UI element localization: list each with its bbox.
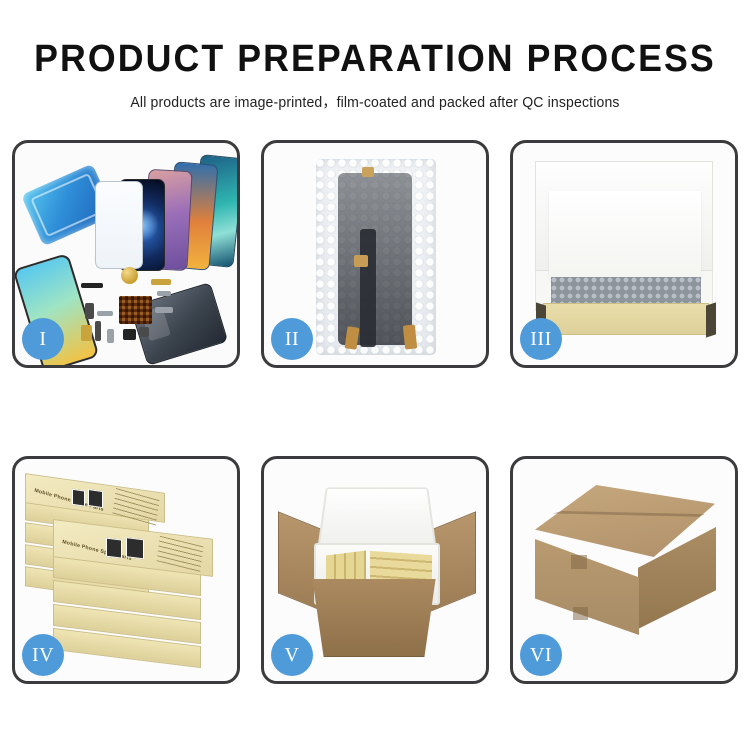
process-step-panel-4[interactable]: Mobile Phone Spare Parts Mobile Phone Sp…: [12, 456, 240, 684]
step-badge-6: VI: [520, 634, 562, 676]
spare-parts-cluster: [81, 267, 201, 359]
step-badge-1: I: [22, 318, 64, 360]
screen-flex-tail: [360, 229, 376, 347]
bubble-wrap-bag: [316, 159, 436, 355]
process-step-panel-2[interactable]: II: [261, 140, 489, 368]
part-flex-gold: [151, 279, 171, 285]
step-badge-5: V: [271, 634, 313, 676]
vibration-motor-part: [121, 267, 138, 284]
process-step-panel-5[interactable]: V: [261, 456, 489, 684]
connector-grid-part: [119, 296, 152, 324]
carton-body: [304, 579, 444, 657]
step-badge-3: III: [520, 318, 562, 360]
part-flex-cable: [95, 321, 101, 341]
page-title: PRODUCT PREPARATION PROCESS: [23, 40, 728, 78]
part-antenna: [155, 307, 173, 313]
process-step-panel-1[interactable]: I: [12, 140, 240, 368]
part-button: [123, 329, 136, 340]
sealed-carton-front: [535, 539, 639, 635]
step-badge-4: IV: [22, 634, 64, 676]
foam-sheet: [549, 191, 701, 279]
box-chip-image-b1: [72, 489, 85, 507]
part-sensor: [139, 327, 149, 337]
step-6-image: VI: [513, 459, 735, 681]
step-3-image: III: [513, 143, 735, 365]
process-step-panel-3[interactable]: III: [510, 140, 738, 368]
step-badge-2: II: [271, 318, 313, 360]
tape-piece-1: [362, 167, 374, 177]
tape-piece-2: [354, 255, 368, 267]
part-camera: [85, 303, 94, 319]
part-sim-tray: [107, 329, 114, 343]
page-header: PRODUCT PREPARATION PROCESS All products…: [0, 0, 750, 112]
screen-protector: [95, 181, 143, 269]
foam-box-lid: [318, 487, 437, 547]
process-step-panel-6[interactable]: VI: [510, 456, 738, 684]
bubble-wrap-fill: [551, 277, 701, 305]
part-bracket: [157, 291, 171, 296]
step-2-image: II: [264, 143, 486, 365]
part-speaker: [81, 283, 103, 288]
yellow-box-base: [543, 303, 709, 335]
process-step-grid: I II III: [12, 140, 738, 692]
carton-tape-mark-1: [571, 555, 587, 569]
part-clip: [97, 311, 113, 316]
step-4-image: Mobile Phone Spare Parts Mobile Phone Sp…: [15, 459, 237, 681]
step-5-image: V: [264, 459, 486, 681]
box-chip-image-b2: [88, 489, 103, 508]
box-chip-image-f2: [126, 537, 144, 559]
tape-piece-4: [403, 324, 417, 349]
page-subtitle: All products are image-printed，film-coat…: [11, 91, 739, 112]
step-1-image: I: [15, 143, 237, 365]
carton-tape-mark-2: [573, 607, 588, 620]
tape-piece-3: [345, 326, 360, 349]
box-chip-image-f1: [106, 538, 122, 559]
part-gold-shield: [81, 325, 92, 341]
